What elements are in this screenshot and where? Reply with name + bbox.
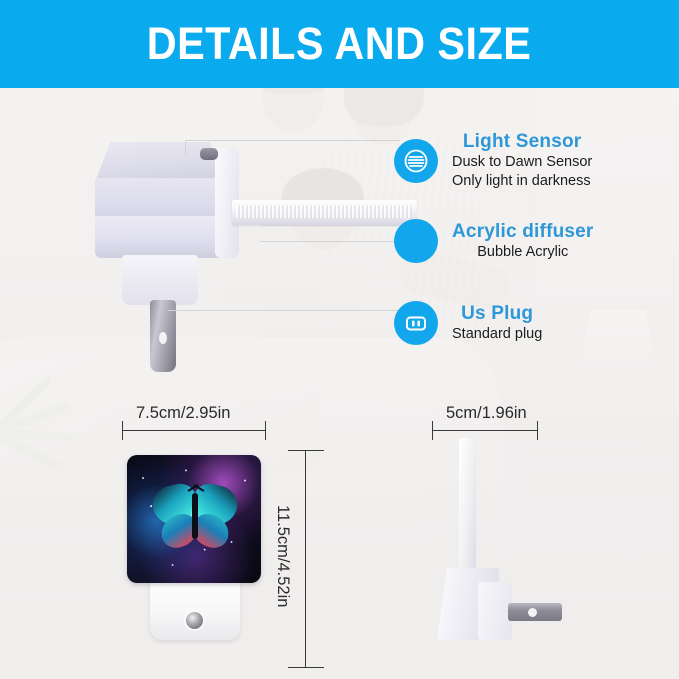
acrylic-bubble-texture <box>236 205 412 218</box>
leader-line-plug <box>168 310 410 311</box>
dimension-label-width-side: 5cm/1.96in <box>446 404 527 423</box>
callout-title: Acrylic diffuser <box>452 221 594 243</box>
light-sensor-icon <box>394 139 438 183</box>
product-detail-image: DETAILS AND SIZE <box>0 0 679 679</box>
outlet-icon <box>394 301 438 345</box>
dimension-bar <box>432 430 538 431</box>
side-view-acrylic-panel <box>459 438 476 573</box>
dimension-cap-top <box>288 450 324 451</box>
dimension-bar <box>122 430 266 431</box>
leader-line-sensor-vertical <box>185 140 186 156</box>
callout-acrylic-diffuser-text: Acrylic diffuser Bubble Acrylic <box>452 221 594 262</box>
page-title: DETAILS AND SIZE <box>147 18 532 70</box>
callout-acrylic-diffuser: Acrylic diffuser Bubble Acrylic <box>394 219 594 263</box>
leader-line-acrylic-top <box>260 225 408 226</box>
side-view-prong-hole <box>528 608 537 617</box>
prong-hole <box>159 332 167 344</box>
leader-line-acrylic-bottom <box>260 241 410 242</box>
night-light-plug-neck <box>122 255 198 305</box>
callout-us-plug-text: Us Plug Standard plug <box>452 303 542 344</box>
dimension-cap-left <box>432 421 433 440</box>
side-view-plug-housing <box>478 582 512 640</box>
dimension-cap-bottom <box>288 667 324 668</box>
dimension-bar <box>305 450 306 668</box>
callout-line-2: Only light in darkness <box>452 172 592 191</box>
butterfly-graphic <box>149 485 241 551</box>
dimension-cap-right <box>265 421 266 440</box>
light-sensor-window <box>200 148 218 160</box>
night-light-lower-body <box>95 216 225 258</box>
callout-title: Us Plug <box>452 303 542 325</box>
sensor-button <box>184 610 205 631</box>
dimension-cap-left <box>122 421 123 440</box>
callout-line-1: Bubble Acrylic <box>452 243 594 262</box>
butterfly-body <box>192 493 198 539</box>
leader-line-sensor <box>185 140 400 141</box>
header-banner: DETAILS AND SIZE <box>0 0 679 88</box>
dimension-label-width-front: 7.5cm/2.95in <box>136 404 230 423</box>
callout-light-sensor: Light Sensor Dusk to Dawn Sensor Only li… <box>394 131 592 191</box>
callout-title: Light Sensor <box>452 131 592 153</box>
callout-line-1: Dusk to Dawn Sensor <box>452 153 592 172</box>
callout-light-sensor-text: Light Sensor Dusk to Dawn Sensor Only li… <box>452 131 592 191</box>
dimension-label-height: 11.5cm/4.52in <box>273 505 292 607</box>
butterfly-acrylic-panel <box>127 455 261 583</box>
acrylic-diffuser-icon <box>394 219 438 263</box>
dimension-cap-right <box>537 421 538 440</box>
callout-line-1: Standard plug <box>452 325 542 344</box>
callout-us-plug: Us Plug Standard plug <box>394 301 542 345</box>
